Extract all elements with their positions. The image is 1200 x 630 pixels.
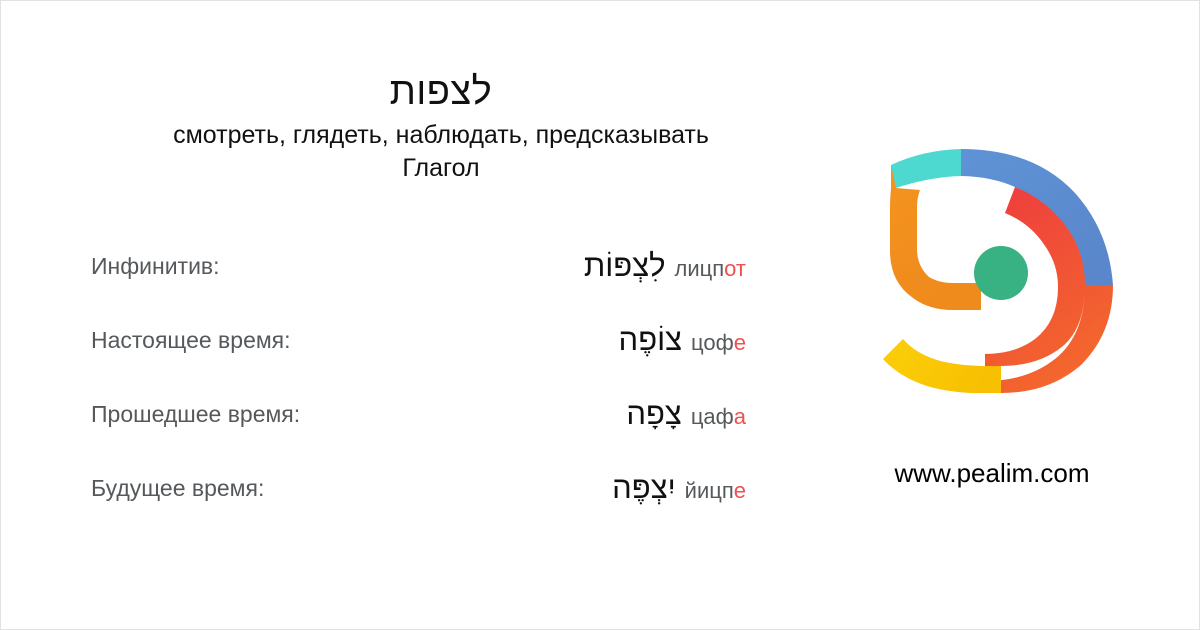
row-form-present: צוֹפֶהцофе bbox=[1, 322, 746, 358]
translit-stressed-syllable: е bbox=[734, 478, 746, 503]
conjugation-list: Инфинитив: לִצְפּוֹתлицпот Настоящее вре… bbox=[1, 229, 881, 525]
logo-segment-orange bbox=[890, 165, 981, 310]
translit-stressed-syllable: от bbox=[724, 256, 746, 281]
title-translation: смотреть, глядеть, наблюдать, предсказыв… bbox=[1, 119, 881, 152]
card-header: לצפות смотреть, глядеть, наблюдать, пред… bbox=[1, 69, 881, 184]
page-title-hebrew: לצפות bbox=[1, 69, 881, 115]
site-url: www.pealim.com bbox=[869, 458, 1115, 489]
logo-segment-teal bbox=[891, 149, 961, 189]
title-part-of-speech: Глагол bbox=[1, 152, 881, 185]
translit-base: цаф bbox=[691, 404, 734, 429]
row-form-past: צָפָהцафа bbox=[1, 396, 746, 432]
pealim-logo-icon bbox=[869, 125, 1115, 393]
conjugation-row-past: Прошедшее время: צָפָהцафа bbox=[1, 377, 881, 451]
translit-stressed-syllable: а bbox=[734, 404, 746, 429]
transliteration-past: цафа bbox=[691, 404, 746, 430]
verb-conjugation-card: לצפות смотреть, глядеть, наблюдать, пред… bbox=[0, 0, 1200, 630]
logo-green-dot bbox=[974, 246, 1028, 300]
logo-segment-yellow bbox=[883, 339, 1001, 393]
translit-stressed-syllable: е bbox=[734, 330, 746, 355]
row-form-future: יִצְפֶּהйицпе bbox=[1, 470, 746, 506]
transliteration-future: йицпе bbox=[685, 478, 746, 504]
hebrew-form-future: יִצְפֶּה bbox=[612, 470, 676, 506]
conjugation-row-future: Будущее время: יִצְפֶּהйицпе bbox=[1, 451, 881, 525]
conjugation-row-infinitive: Инфинитив: לִצְפּוֹתлицпот bbox=[1, 229, 881, 303]
translit-base: йицп bbox=[685, 478, 734, 503]
translit-base: лицп bbox=[675, 256, 725, 281]
translit-base: цоф bbox=[691, 330, 734, 355]
hebrew-form-past: צָפָה bbox=[626, 396, 681, 432]
hebrew-form-infinitive: לִצְפּוֹת bbox=[584, 248, 666, 284]
conjugation-row-present: Настоящее время: צוֹפֶהцофе bbox=[1, 303, 881, 377]
row-form-infinitive: לִצְפּוֹתлицпот bbox=[1, 248, 746, 284]
hebrew-form-present: צוֹפֶה bbox=[619, 322, 683, 358]
transliteration-infinitive: лицпот bbox=[675, 256, 746, 282]
transliteration-present: цофе bbox=[691, 330, 746, 356]
